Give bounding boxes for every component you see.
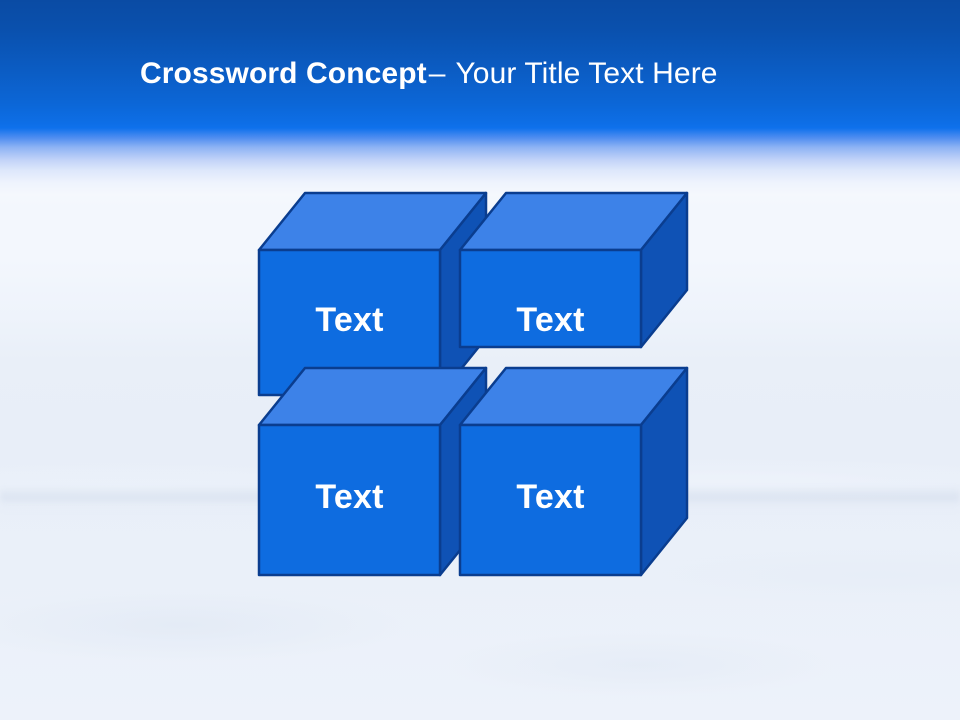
cube-top-right-shape <box>456 188 696 358</box>
cube-top-right[interactable]: Text <box>456 188 696 358</box>
slide-canvas: Crossword Concept– Your Title Text Here … <box>0 0 960 720</box>
cube-diagram: Text Text Text <box>0 0 960 720</box>
cube-top-right-face-front <box>460 250 641 347</box>
cube-bottom-right-shape <box>456 363 696 583</box>
cube-bottom-right-face-front <box>460 425 641 575</box>
cube-bottom-right[interactable]: Text <box>456 363 696 583</box>
cube-bottom-left-face-front <box>259 425 440 575</box>
